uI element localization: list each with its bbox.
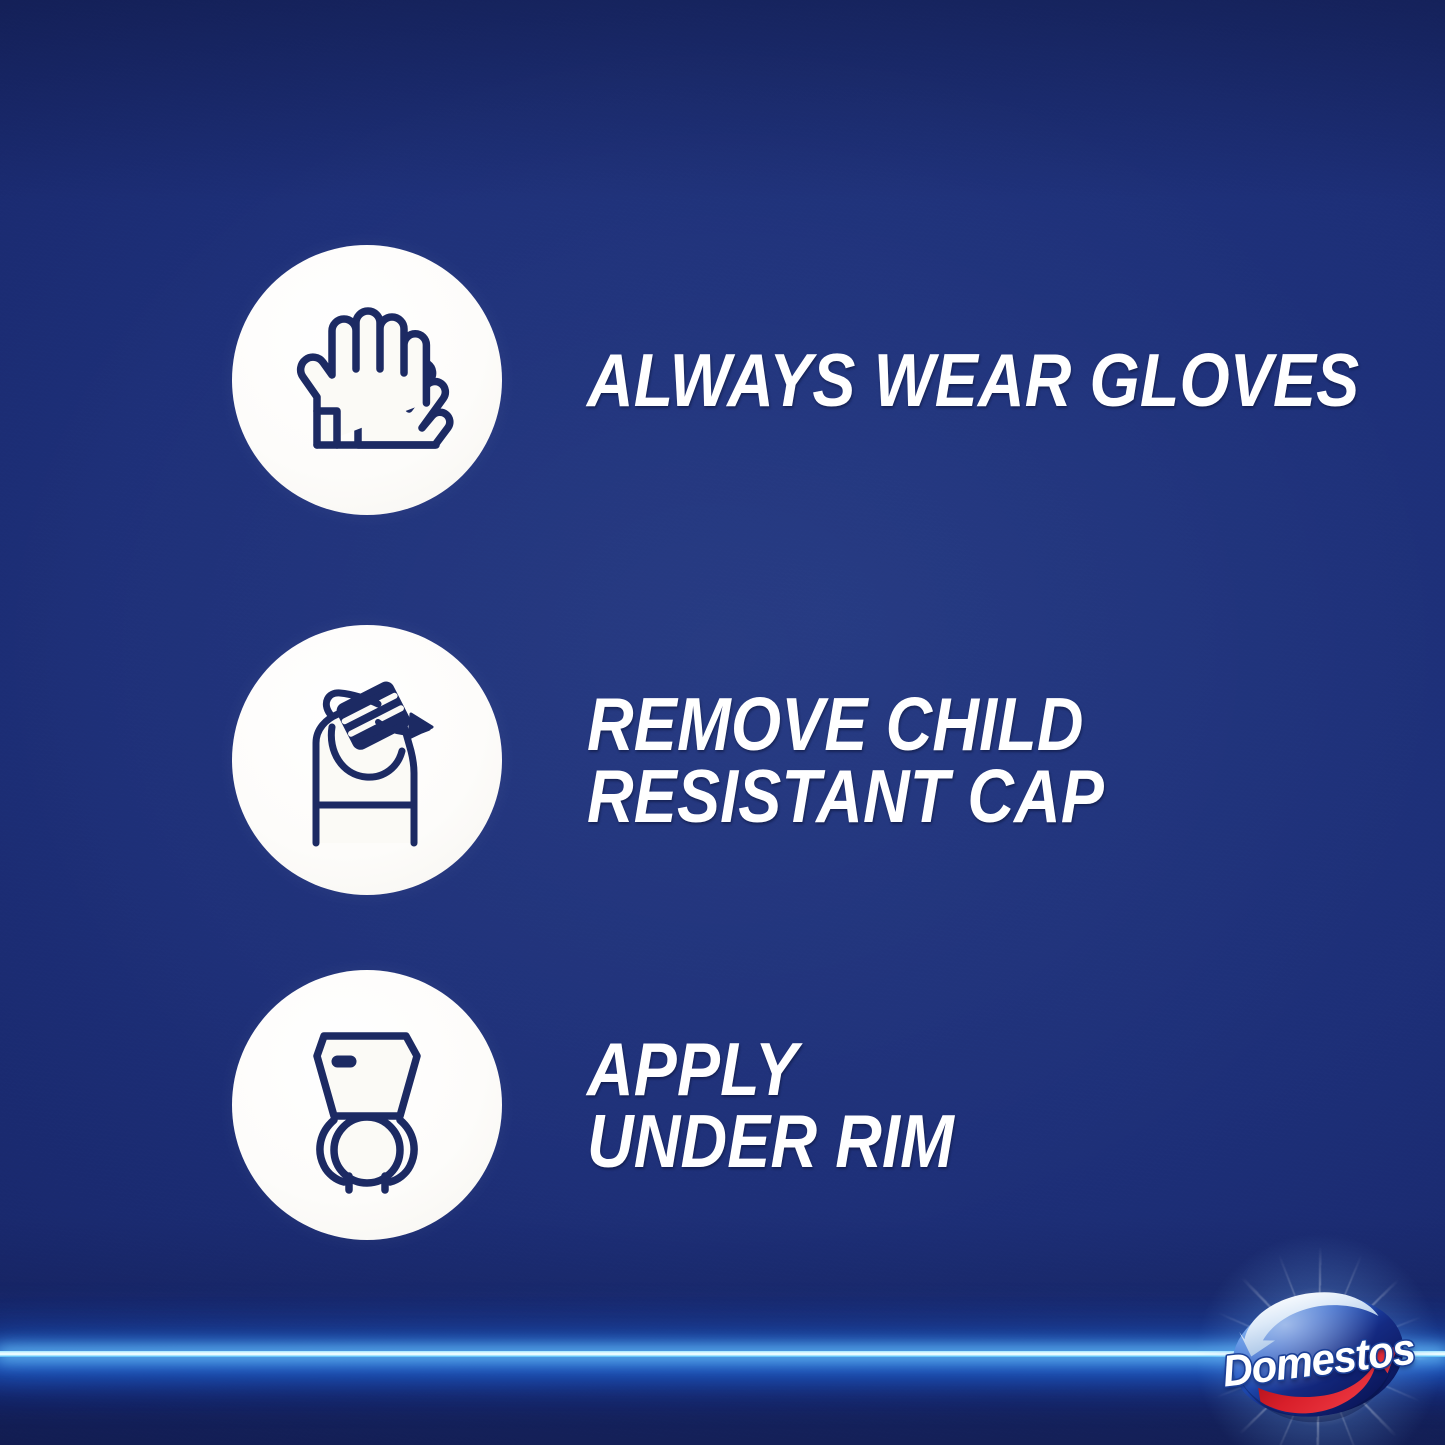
step-3-line-2: UNDER RIM [587, 1105, 954, 1177]
step-3-icon-badge [232, 970, 502, 1240]
toilet-under-rim-icon [272, 1010, 462, 1200]
child-resistant-cap-icon [272, 665, 462, 855]
instruction-step-2: REMOVE CHILD RESISTANT CAP [232, 625, 1188, 895]
step-3-label: APPLY UNDER RIM [587, 1033, 954, 1177]
product-instructions-banner: ALWAYS WEAR GLOVES [0, 0, 1445, 1445]
step-2-line-2: RESISTANT CAP [587, 760, 1104, 832]
step-2-icon-badge [232, 625, 502, 895]
step-2-label: REMOVE CHILD RESISTANT CAP [587, 688, 1104, 832]
instruction-step-3: APPLY UNDER RIM [232, 970, 1014, 1240]
step-2-line-1: REMOVE CHILD [587, 688, 1104, 760]
domestos-logo: Domestos [1192, 1268, 1445, 1445]
logo-badge-shape [1192, 1268, 1445, 1445]
step-1-label: ALWAYS WEAR GLOVES [587, 344, 1359, 416]
gloves-icon [272, 285, 462, 475]
step-1-icon-badge [232, 245, 502, 515]
instruction-step-1: ALWAYS WEAR GLOVES [232, 245, 1445, 515]
step-1-line-1: ALWAYS WEAR GLOVES [587, 344, 1359, 416]
step-3-line-1: APPLY [587, 1033, 954, 1105]
